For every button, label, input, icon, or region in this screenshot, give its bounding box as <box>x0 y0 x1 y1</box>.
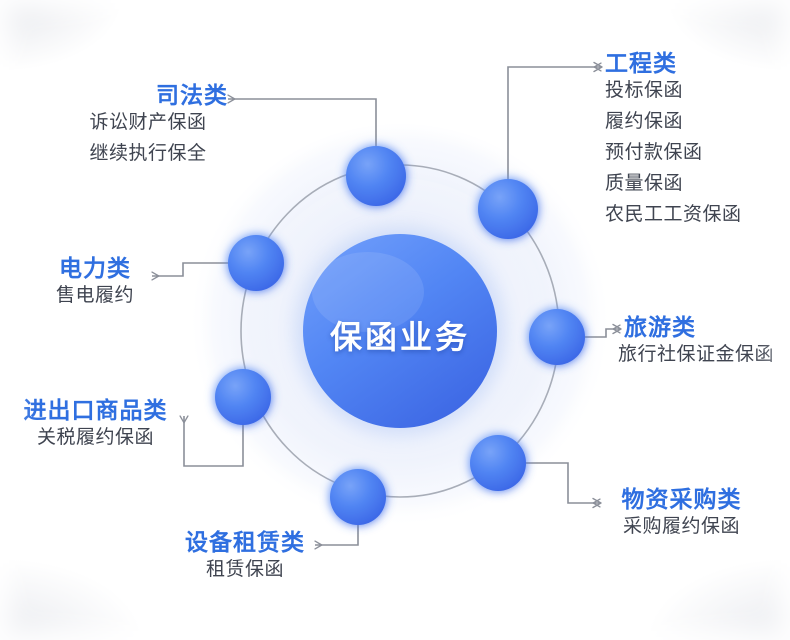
group-equipment-leasing-item-0: 租赁保函 <box>175 555 315 586</box>
group-import-export-item-0: 关税履约保函 <box>8 423 183 454</box>
group-import-export-title: 进出口商品类 <box>8 397 183 423</box>
group-tourism-item-0: 旅行社保证金保函 <box>618 340 790 371</box>
node-import-export[interactable] <box>215 369 271 425</box>
group-equipment-leasing-title: 设备租赁类 <box>175 529 315 555</box>
diagram-canvas: 保函业务 司法类 诉讼财产保函 继续执行保全 工程类 投标保函 履约保函 预付款… <box>0 0 790 640</box>
group-material-procurement-title: 物资采购类 <box>604 486 759 512</box>
node-electric-power[interactable] <box>228 235 284 291</box>
node-equipment-leasing[interactable] <box>330 469 386 525</box>
group-engineering-item-0: 投标保函 <box>605 76 790 107</box>
group-electric-power-item-0: 售电履约 <box>40 281 150 312</box>
group-engineering-item-2: 预付款保函 <box>605 138 790 169</box>
group-material-procurement: 物资采购类 采购履约保函 <box>604 486 759 543</box>
group-judicial-title: 司法类 <box>68 82 228 108</box>
group-tourism: 旅游类 旅行社保证金保函 <box>624 314 790 371</box>
group-engineering-title: 工程类 <box>605 50 790 76</box>
group-material-procurement-item-0: 采购履约保函 <box>604 512 759 543</box>
group-tourism-title: 旅游类 <box>624 314 790 340</box>
center-node-label-text: 保函业务 <box>330 319 470 355</box>
group-electric-power-title: 电力类 <box>40 255 150 281</box>
node-tourism[interactable] <box>529 309 585 365</box>
group-engineering-item-3: 质量保函 <box>605 169 790 200</box>
group-electric-power: 电力类 售电履约 <box>40 255 150 312</box>
group-judicial: 司法类 诉讼财产保函 继续执行保全 <box>68 82 228 170</box>
group-judicial-item-0: 诉讼财产保函 <box>68 108 228 139</box>
node-judicial[interactable] <box>346 146 406 206</box>
node-material-procurement[interactable] <box>470 435 526 491</box>
group-engineering: 工程类 投标保函 履约保函 预付款保函 质量保函 农民工工资保函 <box>605 50 790 230</box>
group-engineering-item-1: 履约保函 <box>605 107 790 138</box>
group-engineering-item-4: 农民工工资保函 <box>605 200 790 231</box>
node-engineering[interactable] <box>478 179 538 239</box>
group-equipment-leasing: 设备租赁类 租赁保函 <box>175 529 315 586</box>
center-node-label: 保函业务 <box>280 312 520 358</box>
group-judicial-item-1: 继续执行保全 <box>68 139 228 170</box>
group-import-export: 进出口商品类 关税履约保函 <box>8 397 183 454</box>
